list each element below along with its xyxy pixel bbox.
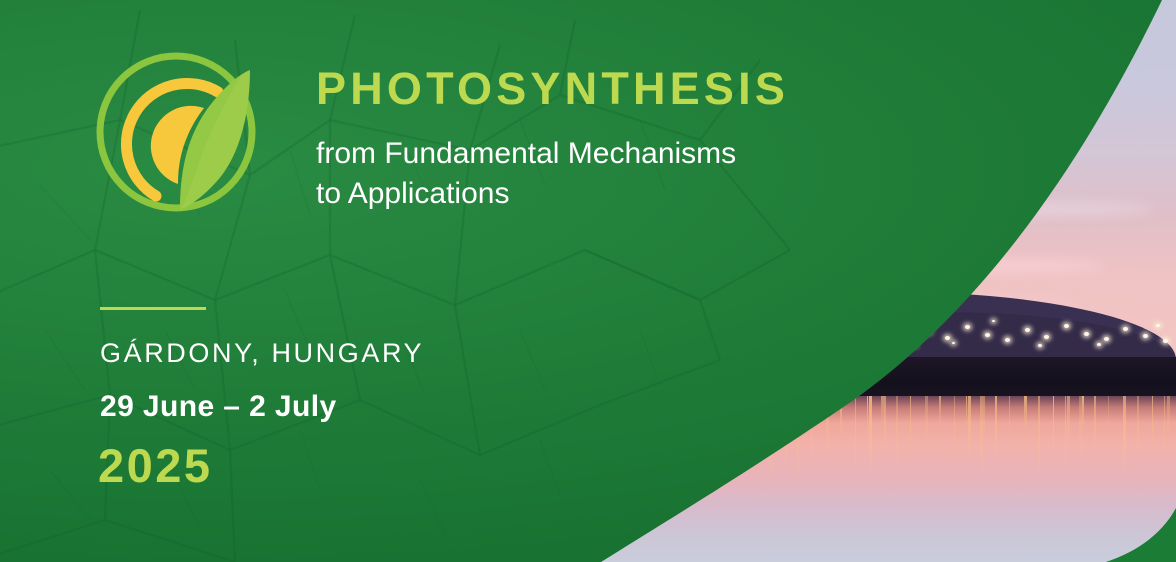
conference-banner: PHOTOSYNTHESIS from Fundamental Mechanis… xyxy=(0,0,1176,562)
subtitle: from Fundamental Mechanisms to Applicati… xyxy=(316,134,736,214)
page-title: PHOTOSYNTHESIS xyxy=(316,66,789,111)
divider-rule xyxy=(100,307,206,310)
photosynthesis-leaf-sun-logo xyxy=(92,48,260,216)
dates-text: 29 June – 2 July xyxy=(100,390,337,424)
year-text: 2025 xyxy=(98,438,213,493)
subtitle-line-2: to Applications xyxy=(316,174,736,214)
subtitle-line-1: from Fundamental Mechanisms xyxy=(316,134,736,174)
location-text: GÁRDONY, HUNGARY xyxy=(100,338,424,369)
